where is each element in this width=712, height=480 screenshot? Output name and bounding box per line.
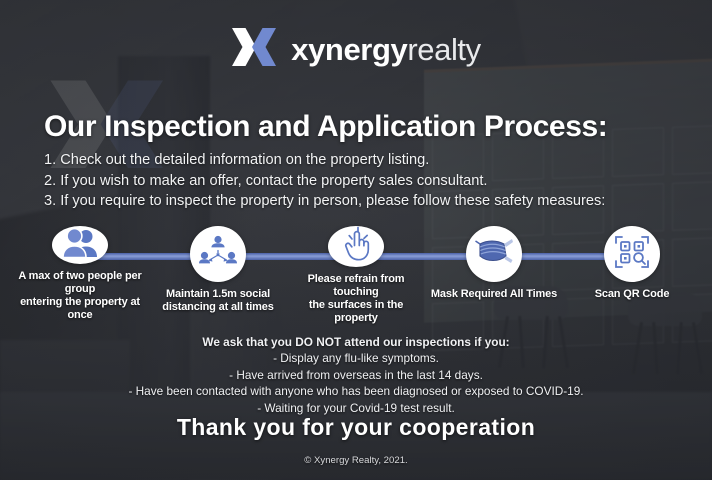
safety-item-qr-code: Scan QR Code — [566, 226, 698, 322]
safety-caption: Scan QR Code — [595, 288, 670, 301]
hand-touch-icon — [339, 226, 373, 267]
safety-item-two-people: A max of two people per group entering t… — [14, 226, 146, 322]
thank-you-message: Thank you for your cooperation — [0, 414, 712, 441]
brand-name-bold: xynergy — [291, 32, 407, 67]
social-distancing-icon — [199, 235, 237, 274]
safety-caption: Please refrain from touching the surface… — [290, 273, 422, 325]
brand-name-light: realty — [407, 32, 480, 67]
safety-caption: A max of two people per group entering t… — [14, 270, 146, 322]
page-title: Our Inspection and Application Process: — [44, 110, 607, 144]
safety-caption: Mask Required All Times — [431, 288, 557, 301]
safety-item-social-distancing: Maintain 1.5m social distancing at all t… — [152, 226, 284, 322]
safety-item-mask: Mask Required All Times — [428, 226, 560, 322]
inspection-process-poster: xynergyrealty Our Inspection and Applica… — [0, 0, 712, 480]
notice-item: - Display any flu-like symptoms. — [0, 350, 712, 366]
safety-caption: Maintain 1.5m social distancing at all t… — [162, 288, 273, 314]
face-mask-icon — [474, 236, 514, 273]
process-steps-list: 1. Check out the detailed information on… — [44, 150, 605, 212]
safety-measures-strip: A max of two people per group entering t… — [0, 226, 712, 322]
do-not-attend-notice: We ask that you DO NOT attend our inspec… — [0, 334, 712, 416]
icon-bubble — [52, 226, 108, 264]
process-step-item: 3. If you require to inspect the propert… — [44, 191, 605, 212]
notice-item: - Have arrived from overseas in the last… — [0, 367, 712, 383]
safety-item-no-touch: Please refrain from touching the surface… — [290, 226, 422, 322]
brand-logo: xynergyrealty — [0, 24, 712, 75]
qr-code-scan-icon — [614, 234, 650, 275]
process-step-item: 1. Check out the detailed information on… — [44, 150, 605, 171]
two-people-group-icon — [62, 227, 98, 264]
process-step-item: 2. If you wish to make an offer, contact… — [44, 171, 605, 192]
brand-wordmark: xynergyrealty — [291, 34, 481, 65]
notice-item: - Have been contacted with anyone who ha… — [0, 383, 712, 399]
icon-bubble — [190, 226, 246, 282]
icon-bubble — [466, 226, 522, 282]
icon-bubble — [328, 226, 384, 267]
copyright-notice: © Xynergy Realty, 2021. — [0, 455, 712, 466]
icon-bubble — [604, 226, 660, 282]
poster-content: xynergyrealty Our Inspection and Applica… — [0, 0, 712, 480]
notice-lead: We ask that you DO NOT attend our inspec… — [0, 334, 712, 350]
xynergy-x-mark-icon — [231, 24, 277, 75]
